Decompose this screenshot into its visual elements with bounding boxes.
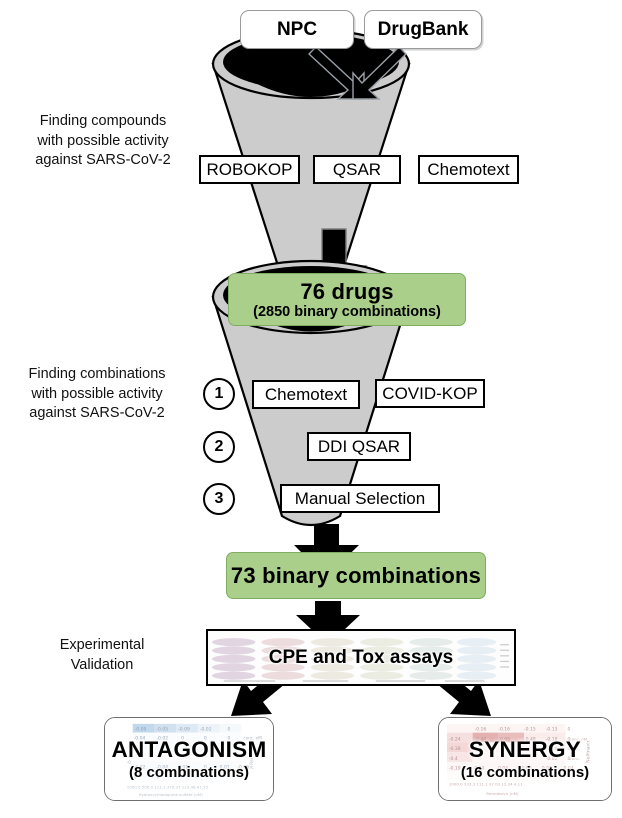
svg-text:-0.05: -0.05 (156, 727, 168, 733)
qsar-filter-box[interactable]: QSAR (313, 155, 401, 184)
step-number-1: 1 (203, 378, 235, 410)
drugs-result-box: 76 drugs (2850 binary combinations) (228, 273, 466, 326)
caption-line: Experimental (22, 636, 182, 656)
svg-text:0: 0 (568, 727, 571, 733)
combinations-headline: 73 binary combinations (231, 563, 481, 589)
svg-text:Remdesivir (nM): Remdesivir (nM) (486, 791, 519, 796)
npc-source-box[interactable]: NPC (240, 10, 354, 49)
stage-caption-combinations: Finding combinations with possible activ… (2, 365, 192, 424)
svg-text:-0.09: -0.09 (178, 727, 190, 733)
caption-line: against SARS-CoV-2 (8, 151, 198, 171)
synergy-detail: (16 combinations) (461, 764, 589, 781)
synergy-title: SYNERGY (469, 737, 581, 763)
drugbank-source-box[interactable]: DrugBank (364, 10, 482, 49)
svg-text:-0.09: -0.09 (135, 727, 147, 733)
svg-text:1000.0 500.0 111.1 370.37: 1000.0 500.0 111.1 370.37 123.46 41.15 (127, 784, 209, 789)
svg-text:-0.16: -0.16 (498, 727, 510, 733)
svg-text:-0.38: -0.38 (449, 746, 461, 752)
synergy-card: -0.16-0.16-0.15 -0.130 -0.24-0.44-0.65 -… (438, 717, 612, 801)
assay-strip: CPE and Tox assays (206, 629, 516, 686)
antagonism-title: ANTAGONISM (111, 737, 266, 763)
antagonism-detail: (8 combinations) (129, 764, 249, 781)
step-number-3: 3 (203, 483, 235, 515)
caption-line: Validation (22, 656, 182, 676)
ddi-qsar-step-box[interactable]: DDI QSAR (307, 432, 411, 461)
svg-text:-0.19: -0.19 (449, 766, 461, 772)
covid-kop-step-box[interactable]: COVID-KOP (375, 379, 485, 408)
svg-text:-0.15: -0.15 (524, 727, 536, 733)
chemotext-filter-box[interactable]: Chemotext (418, 155, 519, 184)
svg-text:1000.0 333.3 111.1 37.03 1: 1000.0 333.3 111.1 37.03 12.34 4.11 (449, 781, 523, 786)
robokop-filter-box[interactable]: ROBOKOP (199, 155, 300, 184)
manual-selection-step-box[interactable]: Manual Selection (280, 484, 440, 513)
svg-text:Nelfinavir: Nelfinavir (585, 740, 591, 762)
svg-text:-0.16: -0.16 (475, 727, 487, 733)
svg-text:-0.13: -0.13 (546, 727, 558, 733)
step-number-2: 2 (203, 431, 235, 463)
svg-text:0: 0 (228, 727, 231, 733)
drugs-headline: 76 drugs (300, 279, 393, 305)
drugs-detail: (2850 binary combinations) (253, 304, 441, 320)
assay-label: CPE and Tox assays (269, 647, 453, 669)
caption-line: Finding compounds (8, 112, 198, 132)
chemotext-step-box[interactable]: Chemotext (252, 380, 360, 409)
combinations-result-box: 73 binary combinations (226, 552, 486, 599)
antagonism-card: -0.09-0.05-0.09 -0.020 -0.04-0.020 00 -0… (104, 717, 274, 801)
svg-text:Hydroxychloroquine sulfate (nM: Hydroxychloroquine sulfate (nM) (139, 792, 204, 797)
caption-line: with possible activity (8, 132, 198, 152)
svg-text:-0.02: -0.02 (200, 727, 212, 733)
flowchart-canvas: Finding compounds with possible activity… (0, 0, 622, 818)
svg-text:-0.24: -0.24 (449, 736, 461, 742)
caption-line: against SARS-CoV-2 (2, 404, 192, 424)
stage-caption-compounds: Finding compounds with possible activity… (8, 112, 198, 171)
svg-text:-0.4: -0.4 (449, 756, 458, 762)
caption-line: Finding combinations (2, 365, 192, 385)
caption-line: with possible activity (2, 385, 192, 405)
stage-caption-validation: Experimental Validation (22, 636, 182, 675)
